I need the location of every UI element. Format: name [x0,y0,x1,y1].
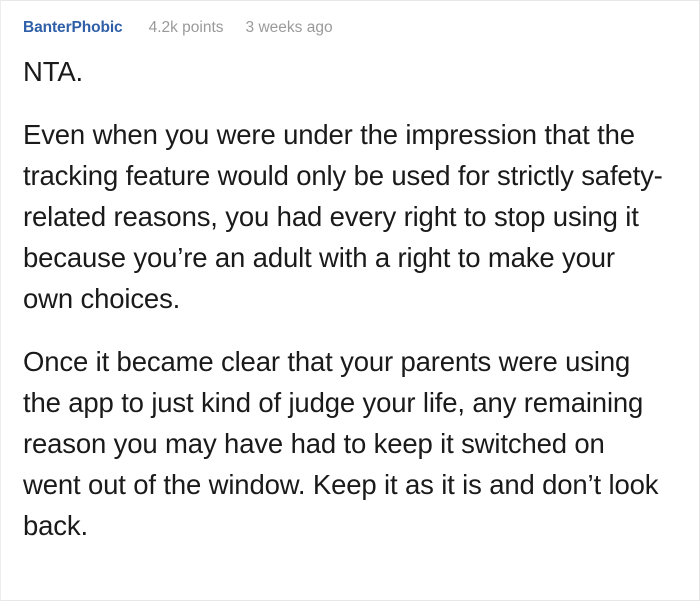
comment-author-link[interactable]: BanterPhobic [23,19,123,37]
comment-timestamp: 3 weeks ago [246,19,333,37]
comment-paragraph: Even when you were under the impression … [23,114,663,319]
comment-header: BanterPhobic 4.2k points 3 weeks ago [23,19,677,41]
comment-paragraph: Once it became clear that your parents w… [23,341,663,546]
comment-body: NTA. Even when you were under the impres… [23,51,663,546]
comment-score: 4.2k points [149,19,224,37]
comment-card: BanterPhobic 4.2k points 3 weeks ago NTA… [0,0,700,601]
comment-paragraph: NTA. [23,51,663,92]
